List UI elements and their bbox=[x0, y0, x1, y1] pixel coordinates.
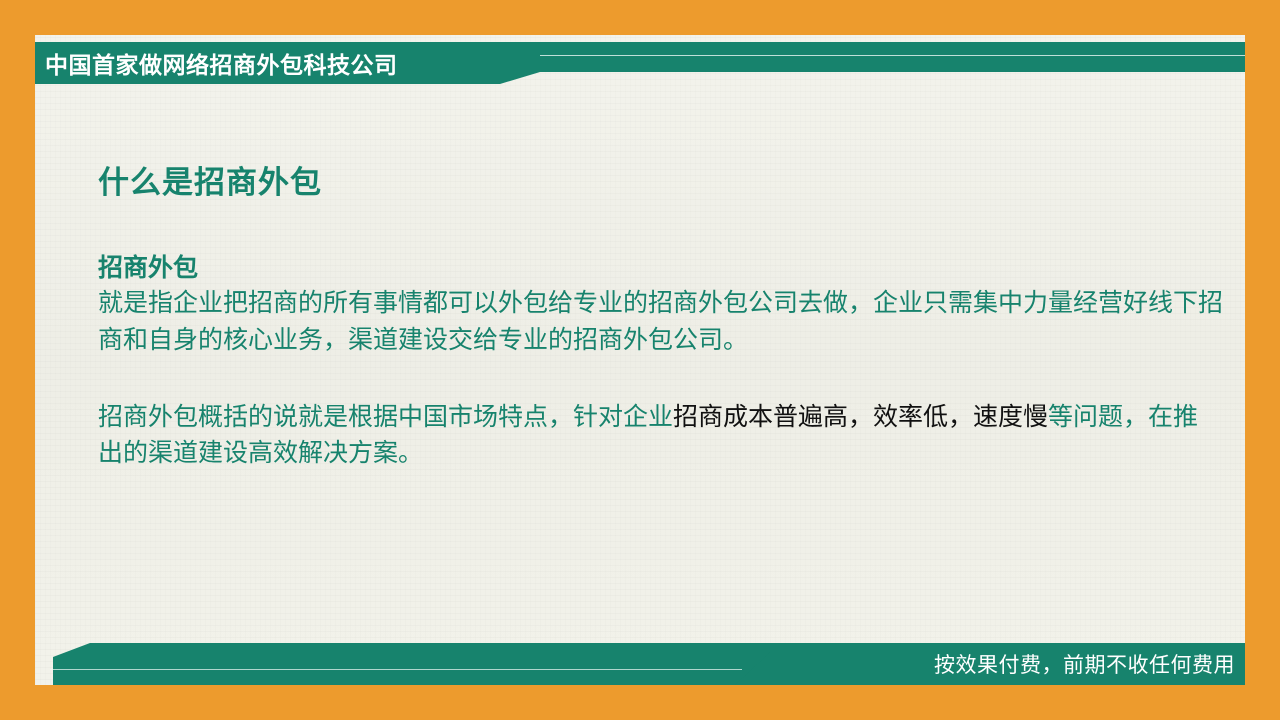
paragraph-spacer bbox=[98, 359, 1223, 399]
page-title: 什么是招商外包 bbox=[98, 165, 1223, 202]
paragraph-summary: 招商外包概括的说就是根据中国市场特点，针对企业招商成本普遍高，效率低，速度慢等问… bbox=[98, 399, 1223, 473]
slide-root: 中国首家做网络招商外包科技公司 什么是招商外包 招商外包就是指企业把招商的所有事… bbox=[0, 0, 1280, 720]
footer-tagline: 按效果付费，前期不收任何费用 bbox=[934, 645, 1235, 683]
footer-hairline-divider bbox=[50, 669, 742, 670]
slide-content: 什么是招商外包 招商外包就是指企业把招商的所有事情都可以外包给专业的招商外包公司… bbox=[98, 165, 1223, 472]
definition-term: 招商外包 bbox=[98, 250, 1223, 285]
summary-text-lead: 招商外包概括的说就是根据中国市场特点，针对企业 bbox=[98, 402, 673, 431]
header-title: 中国首家做网络招商外包科技公司 bbox=[45, 44, 398, 82]
paragraph-definition: 招商外包就是指企业把招商的所有事情都可以外包给专业的招商外包公司去做，企业只需集… bbox=[98, 250, 1223, 359]
header-hairline-divider bbox=[540, 55, 1245, 56]
definition-text: 就是指企业把招商的所有事情都可以外包给专业的招商外包公司去做，企业只需集中力量经… bbox=[98, 288, 1223, 354]
summary-highlight: 招商成本普遍高，效率低，速度慢 bbox=[673, 402, 1048, 431]
